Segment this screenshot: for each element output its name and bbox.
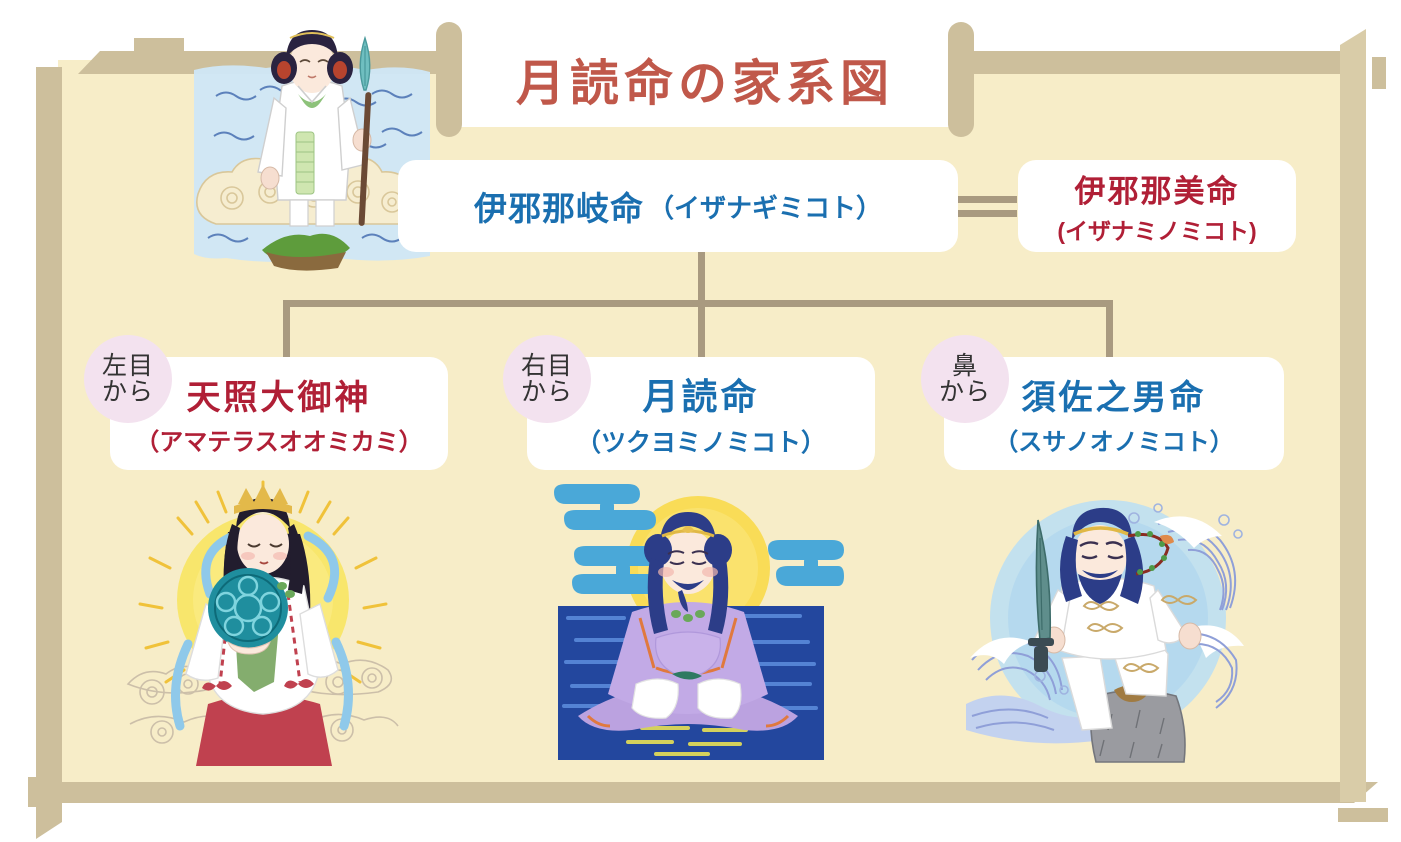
frame-tab-top-left — [134, 38, 184, 52]
frame-beam-bottom — [58, 782, 1354, 803]
amaterasu-illustration — [122, 478, 404, 770]
susanoo-illustration — [962, 478, 1254, 770]
card-izanagi: 伊邪那岐命 （イザナギミコト） — [398, 160, 958, 252]
susanoo-kanji: 須佐之男命 — [1022, 370, 1207, 419]
badge-origin-right-eye: 右目 から — [503, 335, 591, 423]
frame-post-left — [36, 67, 62, 822]
card-izanami: 伊邪那美命 (イザナミノミコト) — [1018, 160, 1296, 252]
tsukuyomi-kanji: 月読命 — [642, 368, 759, 420]
izanagi-kana: （イザナギミコト） — [648, 188, 882, 225]
badge-right-line2: から — [939, 379, 991, 406]
badge-origin-left-eye: 左目 から — [84, 335, 172, 423]
badge-mid-line1: 右目 — [521, 353, 573, 380]
tsukuyomi-kana: （ツクヨミノミコト） — [576, 423, 826, 459]
frame-tab-bottom-right — [1338, 808, 1388, 822]
page-title: 月読命の家系図 — [448, 32, 962, 127]
badge-left-line2: から — [102, 379, 154, 406]
badge-mid-line2: から — [521, 379, 573, 406]
title-banner: 月読命の家系図 — [420, 22, 990, 137]
susanoo-kana: （スサノオノミコト） — [994, 422, 1234, 457]
badge-origin-nose: 鼻 から — [921, 335, 1009, 423]
amaterasu-kanji: 天照大御神 — [187, 370, 372, 419]
frame-tab-top-right — [1372, 57, 1386, 89]
izanagi-kanji: 伊邪那岐命 — [474, 182, 644, 230]
izanami-kanji: 伊邪那美命 — [1075, 166, 1240, 211]
amaterasu-kana: （アマテラスオオミカミ） — [135, 422, 423, 457]
badge-right-line1: 鼻 — [952, 353, 978, 380]
tsukuyomi-illustration — [532, 478, 844, 770]
izanami-kana: (イザナミノミコト) — [1057, 212, 1256, 246]
badge-left-line1: 左目 — [102, 353, 154, 380]
frame-post-right — [1340, 45, 1366, 802]
family-tree-diagram: 月読命の家系図 伊邪那岐命 （イザナギミコト） 伊邪那美命 (イザナミノミコト)… — [0, 0, 1401, 842]
